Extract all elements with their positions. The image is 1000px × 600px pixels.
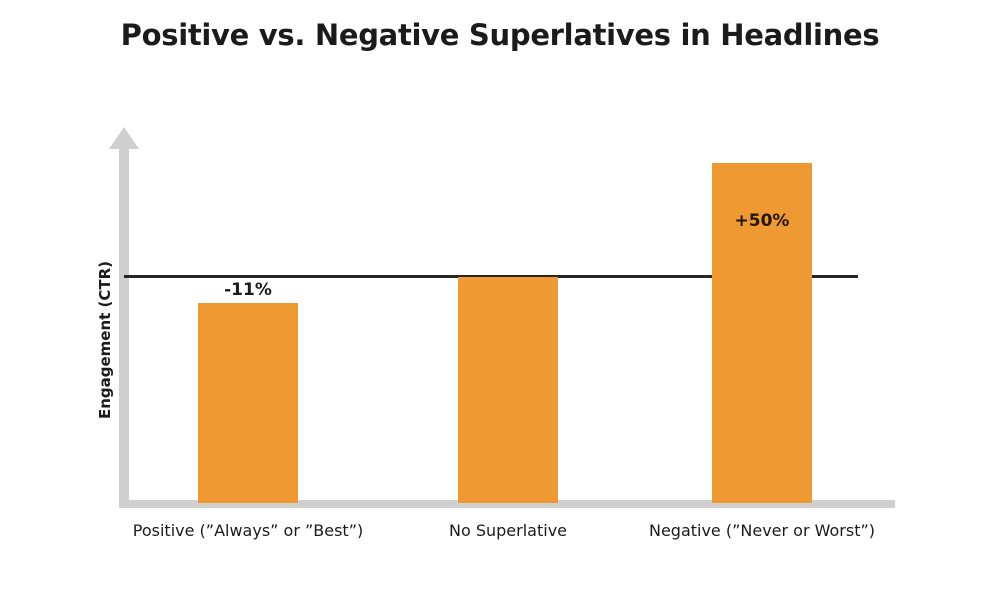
- x-axis-category-no-superlative: No Superlative: [408, 521, 608, 540]
- x-axis-category-positive: Positive (”Always” or ”Best”): [98, 521, 398, 540]
- chart-canvas: Positive vs. Negative Superlatives in He…: [0, 0, 1000, 600]
- x-axis-category-negative: Negative (”Never or Worst”): [617, 521, 907, 540]
- plot-area: Engagement (CTR) -11% +50% Positive (”Al…: [0, 0, 1000, 600]
- bar-positive: [198, 303, 298, 503]
- bar-no-superlative: [458, 277, 558, 503]
- bar-value-label-positive: -11%: [198, 280, 298, 300]
- y-axis-line: [119, 146, 129, 506]
- y-axis-label: Engagement (CTR): [96, 261, 114, 419]
- bar-value-label-negative: +50%: [712, 211, 812, 231]
